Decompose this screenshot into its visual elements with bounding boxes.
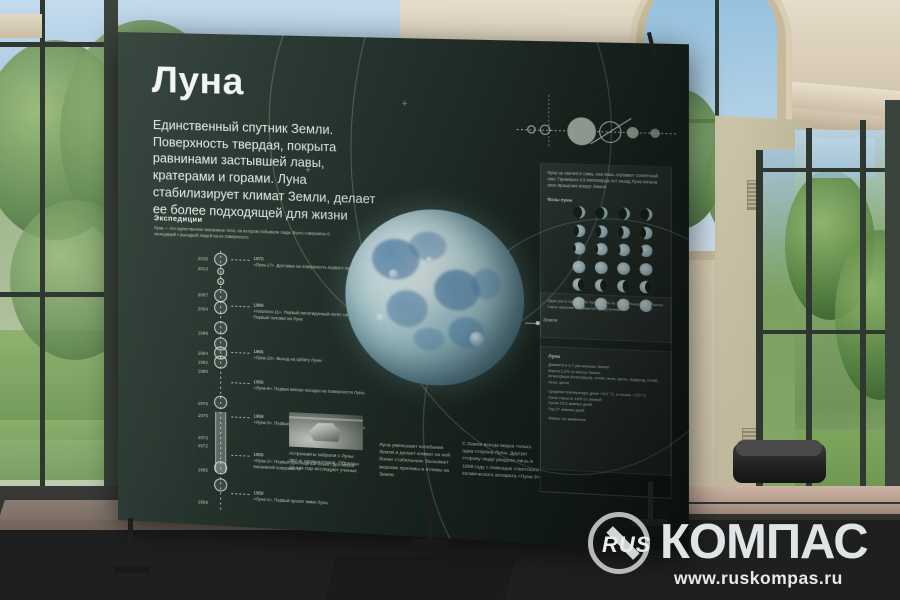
timeline-node (214, 253, 227, 267)
timeline-year: 1959 (198, 499, 208, 505)
watermark: RUS КОМПАС www.ruskompas.ru (588, 506, 900, 584)
timeline-node (214, 321, 227, 335)
timeline-leader-line (231, 493, 251, 495)
ottoman-top (736, 440, 822, 456)
moon-phase-row (573, 260, 669, 276)
watermark-url: www.ruskompas.ru (674, 568, 843, 589)
caption-farside: С Земли всегда видна только одна сторона… (462, 441, 542, 482)
timeline-year: 1994 (198, 350, 208, 355)
timeline-year: 1990 (198, 369, 208, 374)
timeline-year-labels: 2015201320072004199819941992199019761975… (138, 248, 208, 510)
timeline-leader-line (231, 416, 251, 418)
moon-phase-icon (573, 206, 586, 219)
moon-phase-icon (640, 244, 653, 257)
moon-phase-icon (640, 262, 653, 275)
page-title: Луна (152, 59, 244, 104)
window-mullion (40, 0, 45, 510)
expeditions-heading: Экспедиции (154, 213, 203, 224)
timeline-year: 2004 (198, 306, 208, 311)
moon-phase-icon (595, 261, 608, 274)
moon-phase-icon (617, 262, 630, 275)
timeline-year: 2007 (198, 292, 208, 297)
timeline-node (214, 461, 227, 475)
moon-phase-row (573, 224, 669, 240)
moon-phase-icon (617, 244, 630, 257)
spec-item: Жизнь: не выявлена (548, 417, 663, 428)
window-post (104, 0, 118, 520)
moon-phase-icon (617, 280, 630, 293)
moon-phase-row (573, 206, 669, 222)
window-transom (0, 292, 120, 297)
photo-lander-shape (307, 421, 342, 442)
timeline-leader-line (231, 352, 251, 354)
star-marker: ✛ (402, 101, 407, 107)
floor-mat (325, 556, 516, 600)
board-leg-center (428, 498, 433, 542)
size-comparison-diagram (517, 113, 676, 153)
moon-phase-icon (640, 208, 653, 221)
moon-phase-icon (595, 207, 608, 220)
caption-tides: Луна уменьшает колебания Земли и делает … (379, 442, 452, 482)
moon-phase-icon (573, 224, 586, 237)
caption-samples: Астронавты забрали с Луны 382 кг лунных … (289, 451, 363, 477)
timeline-leader-line (231, 306, 251, 308)
board-foot-left (114, 566, 150, 573)
moon-phase-icon (617, 207, 630, 220)
timeline-node (214, 395, 227, 409)
supermoon-box: Один раз в год полная луна видна на 14% … (540, 292, 672, 343)
moon-phase-row (573, 278, 669, 294)
ceiling-box (0, 14, 42, 38)
moon-phase-icon (573, 242, 586, 255)
specs-list: Диаметр в 3,7 раз меньше ЗемлиМасса 1,2%… (548, 363, 663, 428)
phases-heading: Фазы луны (547, 197, 572, 203)
timeline-leader-line (231, 455, 251, 457)
moon-phase-icon (595, 279, 608, 292)
timeline-leader-line (231, 382, 251, 384)
timeline-year: 1975 (198, 413, 208, 419)
body-moon (627, 127, 639, 139)
body-ring-small (540, 124, 551, 135)
window-transom (756, 168, 900, 172)
supermoon-text: Один раз в год полная луна видна на 14% … (547, 299, 664, 315)
panel-light-text: Луна не светится сама, она лишь отражает… (547, 170, 666, 192)
timeline-year: 2015 (198, 256, 208, 261)
timeline-year: 1976 (198, 401, 208, 407)
specs-heading: Луна (548, 353, 663, 363)
timeline-node (217, 278, 224, 285)
moon-phase-icon (595, 225, 608, 238)
information-board: ✛ ✛ Луна Единственный спутник Земли. Пов… (118, 32, 689, 552)
timeline-node (214, 355, 227, 369)
body-ring-small (527, 125, 535, 133)
timeline-node (214, 478, 227, 492)
timeline-year: 1972 (198, 443, 208, 449)
right-window-post (885, 100, 900, 530)
timeline-year: 1998 (198, 330, 208, 335)
diagram-tick (548, 95, 549, 149)
timeline-leader-line (231, 259, 251, 261)
timeline-node (214, 301, 227, 315)
moon-phase-icon (595, 243, 608, 256)
moon-phase-icon (640, 226, 653, 239)
photo-horizon (289, 416, 363, 421)
timeline-year: 1973 (198, 435, 208, 441)
timeline-year: 2013 (198, 266, 208, 271)
board-foot-center (412, 539, 448, 546)
moon-phase-row (573, 242, 669, 258)
moon-illustration (345, 207, 524, 390)
photo-scene: ✛ ✛ Луна Единственный спутник Земли. Пов… (0, 0, 900, 600)
timeline-node (217, 268, 224, 275)
timeline-event: 1959«Луна-1». Первый пролет мимо Луны (254, 490, 375, 508)
timeline-year: 1965 (198, 467, 208, 473)
moon-phase-icon (573, 278, 586, 291)
moon-phase-icon (617, 225, 630, 238)
specs-box: Луна Диаметр в 3,7 раз меньше ЗемлиМасса… (540, 346, 672, 476)
board-leg-left (128, 518, 133, 568)
moon-phase-icon (640, 281, 653, 294)
window-mullion (860, 120, 866, 520)
lunar-lander-photo (289, 412, 363, 450)
moon-phase-icon (573, 260, 586, 273)
timeline-year: 1992 (198, 360, 208, 365)
watermark-brand-prefix: RUS (602, 532, 651, 558)
window-transom (0, 42, 120, 47)
body-small (650, 129, 660, 139)
window-transom (756, 330, 900, 334)
watermark-brand-name: КОМПАС (660, 514, 868, 570)
